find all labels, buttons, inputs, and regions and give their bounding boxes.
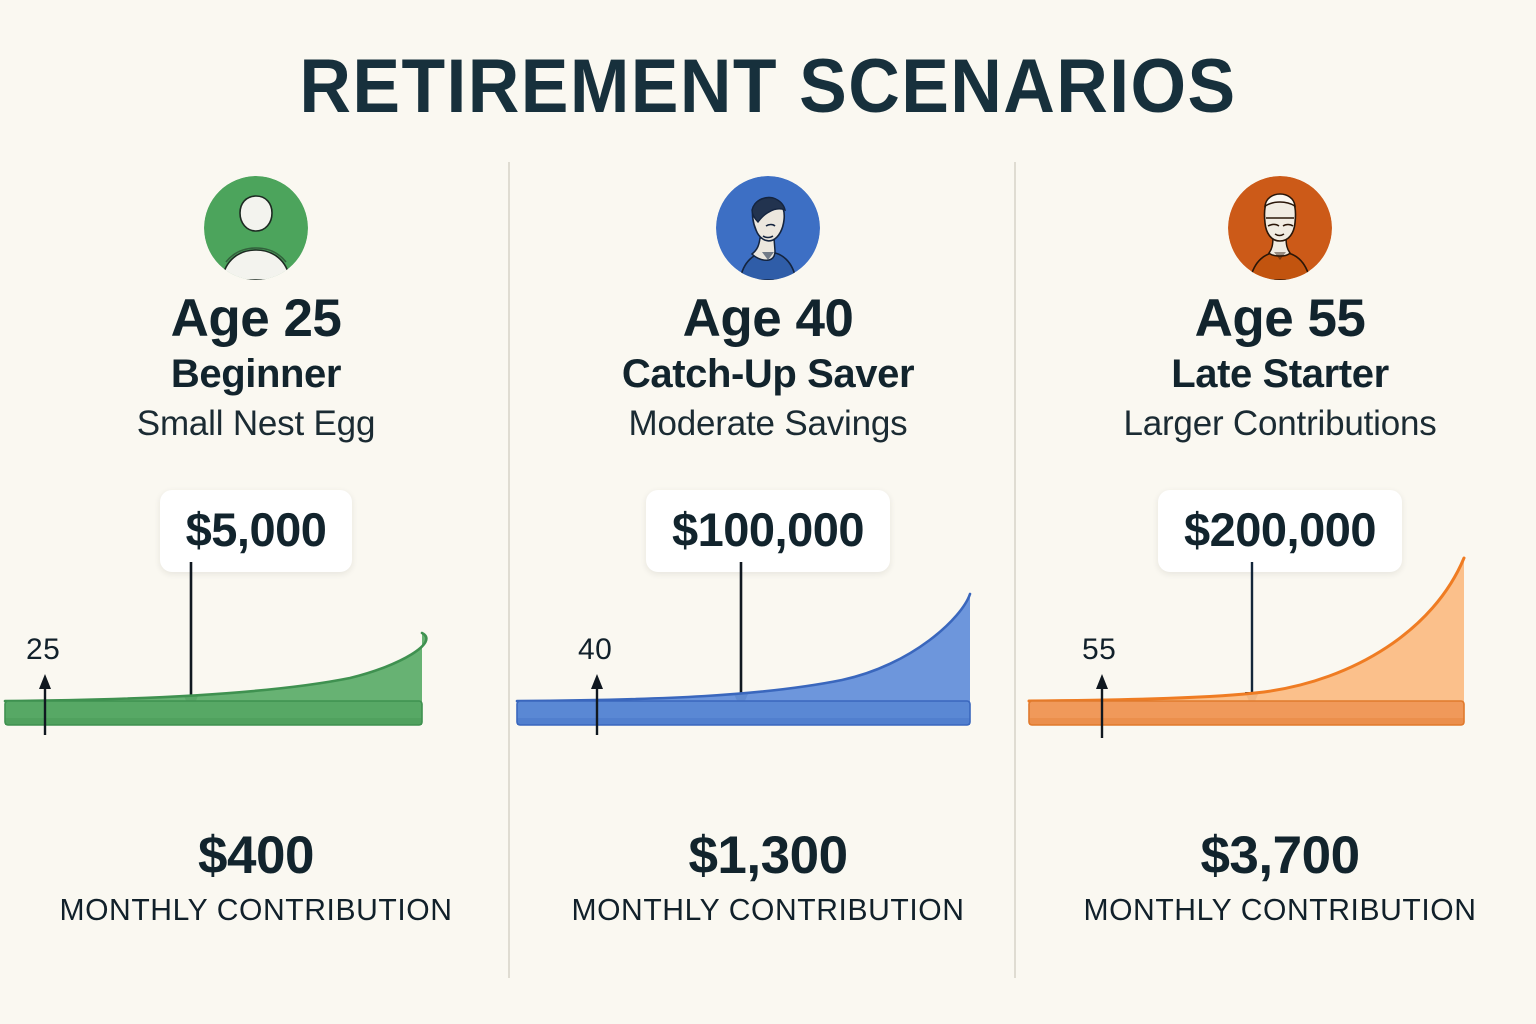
age-label: Age 55 xyxy=(1024,290,1536,348)
callout-leader-line xyxy=(734,562,748,710)
page-title: RETIREMENT SCENARIOS xyxy=(46,44,1490,130)
avatar-wrap xyxy=(0,176,512,280)
growth-chart-age-40: 40 xyxy=(512,570,1024,810)
descriptor-label: Moderate Savings xyxy=(512,402,1024,446)
persona-label: Beginner xyxy=(0,350,512,398)
monthly-caption: MONTHLY CONTRIBUTION xyxy=(8,891,505,929)
avatar-late-starter-icon xyxy=(1228,176,1332,280)
monthly-amount: $400 xyxy=(0,825,512,887)
scenario-columns: Age 25 Beginner Small Nest Egg $5,000 xyxy=(0,150,1536,990)
scenario-column-age-25: Age 25 Beginner Small Nest Egg $5,000 xyxy=(0,150,512,990)
callout-leader-line xyxy=(184,562,198,712)
persona-label: Catch-Up Saver xyxy=(512,350,1024,398)
age-tick-label: 40 xyxy=(578,634,612,666)
starting-balance-callout: $100,000 xyxy=(646,490,890,572)
scenario-column-age-40: Age 40 Catch-Up Saver Moderate Savings $… xyxy=(512,150,1024,990)
starting-balance-callout: $5,000 xyxy=(160,490,353,572)
descriptor-label: Small Nest Egg xyxy=(0,402,512,446)
base-bar-shade xyxy=(5,718,422,725)
callout-leader-line xyxy=(1245,562,1259,708)
callout-wrap: $200,000 xyxy=(1024,490,1536,572)
headings: Age 25 Beginner Small Nest Egg xyxy=(0,290,512,446)
monthly-amount: $1,300 xyxy=(512,825,1024,887)
age-label: Age 25 xyxy=(0,290,512,348)
footer: $1,300 MONTHLY CONTRIBUTION xyxy=(512,825,1024,929)
base-bar-shade xyxy=(517,718,970,725)
footer: $400 MONTHLY CONTRIBUTION xyxy=(0,825,512,929)
descriptor-label: Larger Contributions xyxy=(1024,402,1536,446)
headings: Age 40 Catch-Up Saver Moderate Savings xyxy=(512,290,1024,446)
footer: $3,700 MONTHLY CONTRIBUTION xyxy=(1024,825,1536,929)
callout-wrap: $5,000 xyxy=(0,490,512,572)
growth-chart-age-55: 55 xyxy=(1024,570,1536,810)
age-tick-label: 55 xyxy=(1082,634,1116,666)
growth-chart-age-25: 25 xyxy=(0,570,512,810)
avatar-beginner-icon xyxy=(204,176,308,280)
monthly-amount: $3,700 xyxy=(1024,825,1536,887)
infographic-canvas: RETIREMENT SCENARIOS Age 25 Beginner Sm xyxy=(0,0,1536,1024)
persona-label: Late Starter xyxy=(1024,350,1536,398)
starting-balance-callout: $200,000 xyxy=(1158,490,1402,572)
age-tick-label: 25 xyxy=(26,634,60,666)
avatar-wrap xyxy=(1024,176,1536,280)
monthly-caption: MONTHLY CONTRIBUTION xyxy=(520,891,1017,929)
headings: Age 55 Late Starter Larger Contributions xyxy=(1024,290,1536,446)
avatar-catch-up-saver-icon xyxy=(716,176,820,280)
scenario-column-age-55: Age 55 Late Starter Larger Contributions… xyxy=(1024,150,1536,990)
age-label: Age 40 xyxy=(512,290,1024,348)
callout-wrap: $100,000 xyxy=(512,490,1024,572)
base-bar-shade xyxy=(1029,718,1464,725)
monthly-caption: MONTHLY CONTRIBUTION xyxy=(1032,891,1529,929)
avatar-wrap xyxy=(512,176,1024,280)
